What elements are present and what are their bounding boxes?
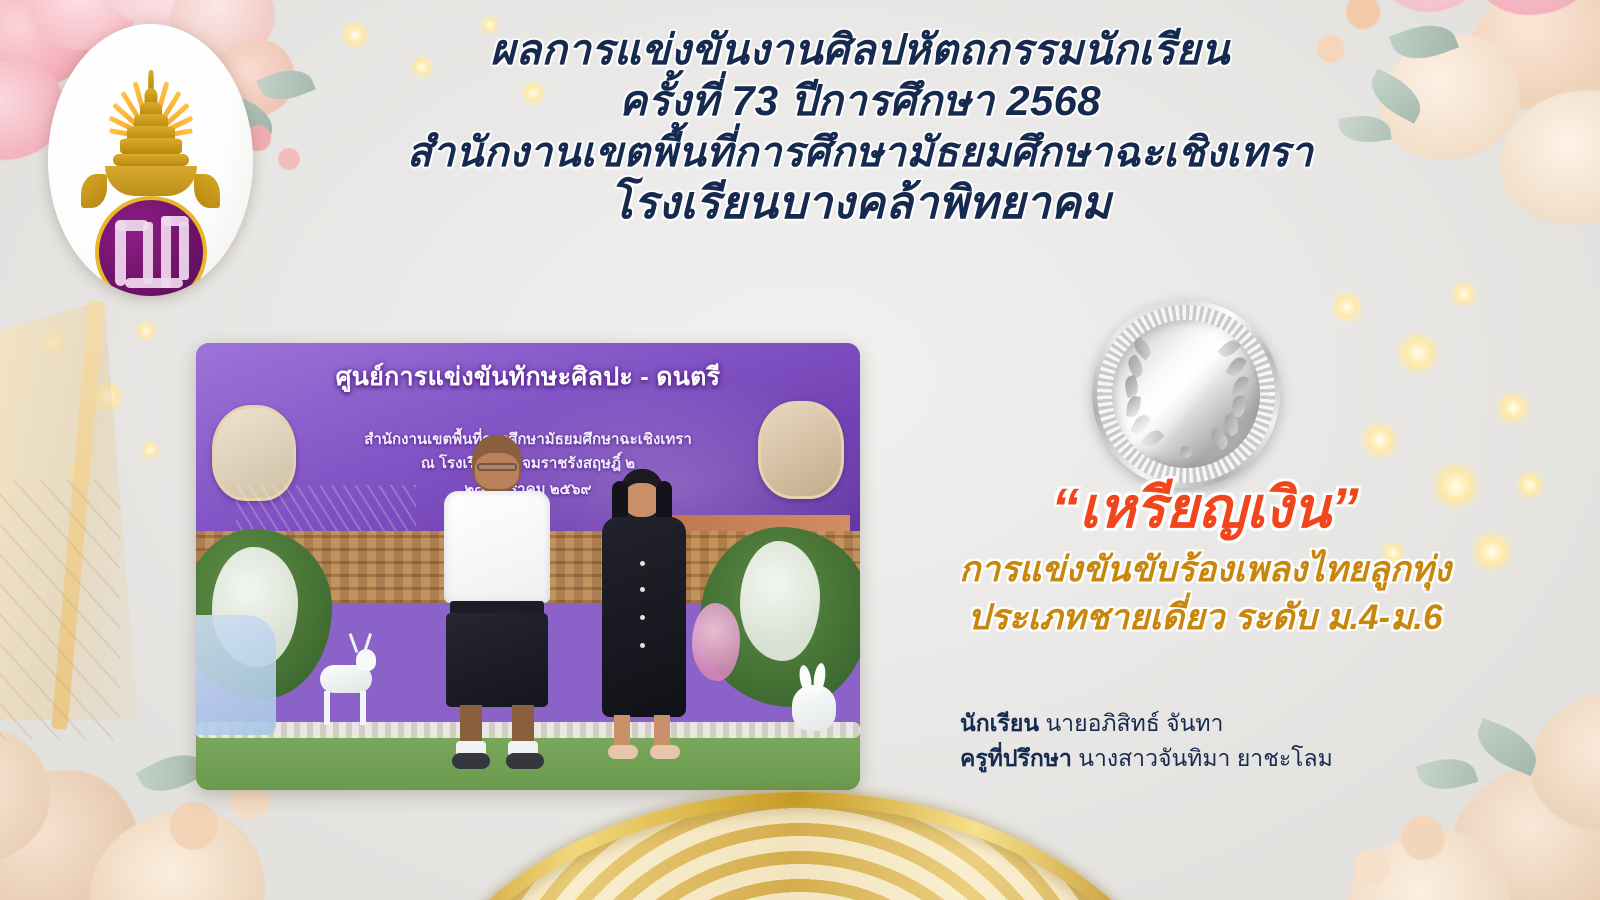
white-deer-statue	[300, 635, 386, 727]
teacher-name: นางสาวจันทิมา ยาชะโลม	[1078, 745, 1333, 771]
award-result-block: “เหรียญเงิน” การแข่งขันขับร้องเพลงไทยลูก…	[905, 478, 1505, 640]
medal-face	[1112, 320, 1260, 468]
title-line-1: ผลการแข่งขันงานศิลปหัตถกรรมนักเรียน	[270, 26, 1450, 73]
geometric-line-pattern	[0, 480, 120, 740]
stage-white-flowers-right	[740, 541, 820, 661]
title-line-2: ครั้งที่ 73 ปีการศึกษา 2568	[270, 77, 1450, 124]
teacher-row: ครูที่ปรึกษา นางสาวจันทิมา ยาชะโลม	[960, 741, 1500, 776]
credits-block: นักเรียน นายอภิสิทธ์ จันทา ครูที่ปรึกษา …	[960, 706, 1500, 775]
award-medal-name: “เหรียญเงิน”	[905, 478, 1505, 537]
bottom-arc-pattern	[411, 806, 1189, 900]
silver-medal-icon	[1092, 300, 1280, 488]
title-line-3: สำนักงานเขตพื้นที่การศึกษามัธยมศึกษาฉะเช…	[270, 130, 1450, 176]
stage-blue-drape	[196, 615, 276, 735]
medal-shine	[1112, 320, 1260, 468]
banner-heading: ศูนย์การแข่งขันทักษะศิลปะ - ดนตรี	[196, 357, 860, 397]
page-title: ผลการแข่งขันงานศิลปหัตถกรรมนักเรียน ครั้…	[270, 26, 1450, 228]
title-line-4: โรงเรียนบางคล้าพิทยาคม	[270, 178, 1450, 228]
floral-decoration-bottom-right	[1260, 660, 1600, 900]
gold-ribbon-left	[0, 300, 180, 720]
student-figure	[432, 435, 562, 765]
white-rabbit-statue	[786, 659, 844, 733]
gold-ribbon-accent-line	[51, 300, 104, 730]
student-row: นักเรียน นายอภิสิทธ์ จันทา	[960, 706, 1500, 741]
stage-pink-flowers	[692, 603, 740, 681]
photo-stage-foreground	[196, 531, 860, 790]
teacher-label: ครูที่ปรึกษา	[960, 745, 1072, 771]
award-category-level: ประเภทชายเดี่ยว ระดับ ม.4-ม.6	[905, 595, 1505, 641]
banner-instrument-cartouche-right	[758, 401, 844, 499]
poster-canvas: ผลการแข่งขันงานศิลปหัตถกรรมนักเรียน ครั้…	[0, 0, 1600, 900]
award-photo: ศูนย์การแข่งขันทักษะศิลปะ - ดนตรี สำนักง…	[196, 343, 860, 790]
award-competition-name: การแข่งขันขับร้องเพลงไทยลูกทุ่ง	[905, 547, 1505, 593]
school-royal-emblem-logo	[48, 24, 253, 296]
gold-sparkles-left	[20, 300, 200, 540]
student-label: นักเรียน	[960, 710, 1039, 736]
teacher-figure	[588, 469, 698, 769]
monogram-circle	[95, 196, 207, 296]
student-name: นายอภิสิทธ์ จันทา	[1045, 710, 1223, 736]
